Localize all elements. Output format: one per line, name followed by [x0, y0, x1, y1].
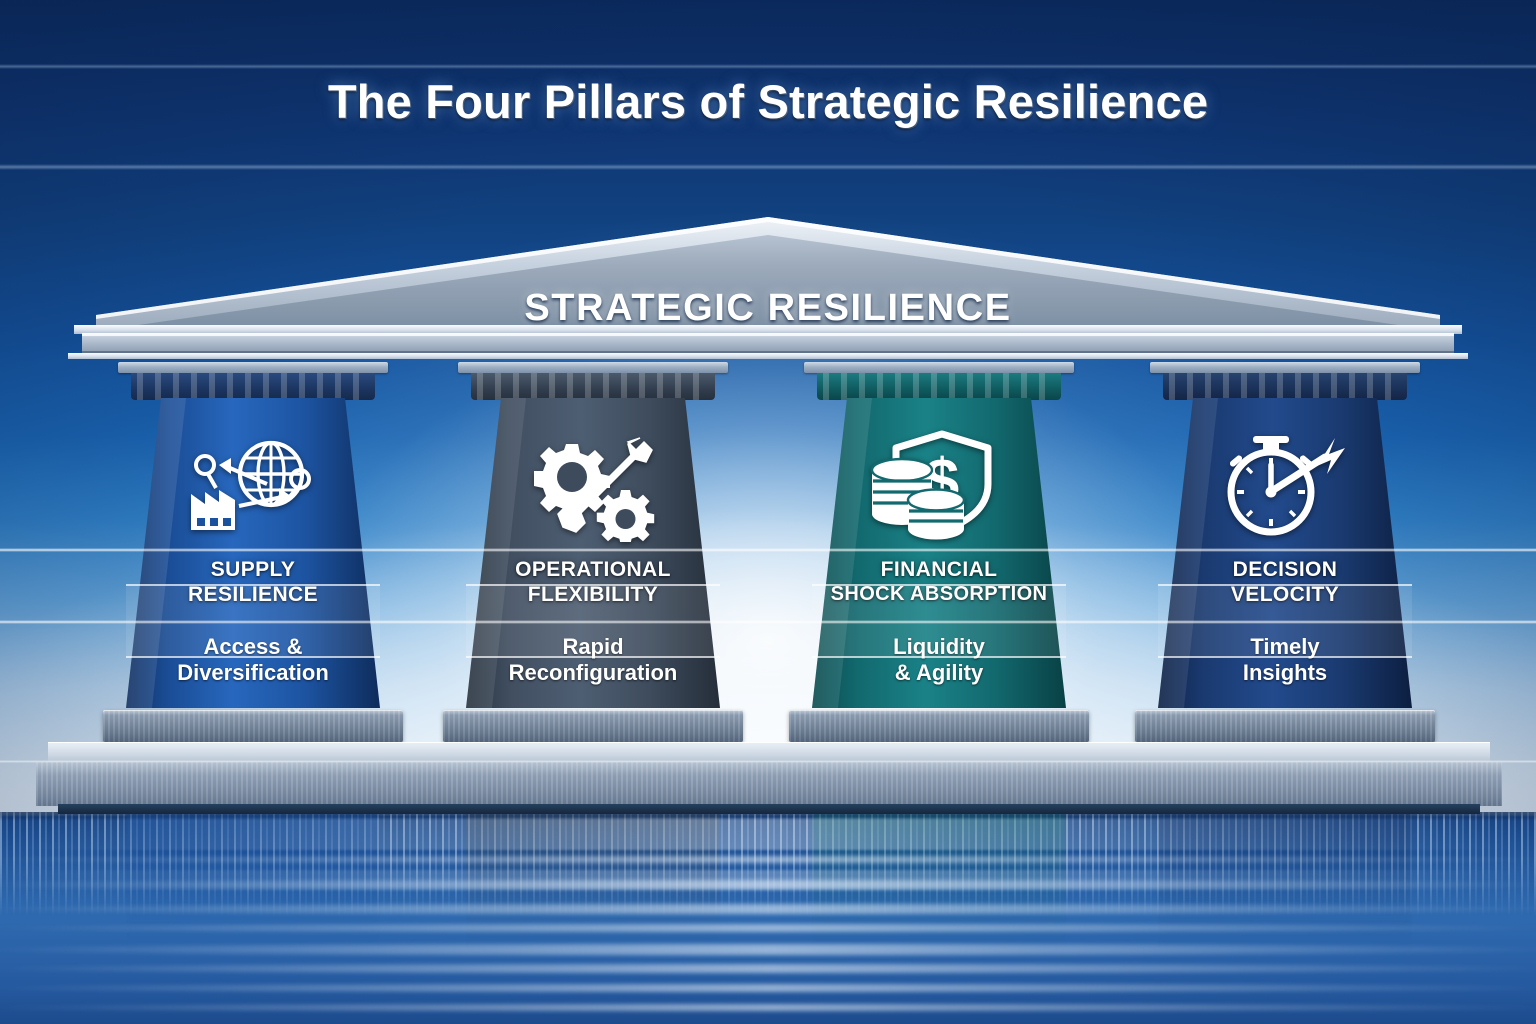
pillar-supply-resilience[interactable]: SUPPLY RESILIENCE Access & Diversificati…: [126, 362, 380, 742]
platform-step-main: [36, 762, 1502, 806]
shield-coins-dollar-icon: $: [812, 428, 1066, 545]
pillar-capital: [812, 362, 1066, 400]
page-title-text: The Four Pillars of Strategic Resilience: [328, 74, 1208, 129]
pillar-title-line2: FLEXIBILITY: [466, 583, 720, 608]
pillar-plinth: [789, 710, 1089, 742]
page-title: The Four Pillars of Strategic Resilience: [0, 74, 1536, 129]
pillar-title-line2: VELOCITY: [1158, 583, 1412, 608]
water-ripple: [0, 964, 1536, 973]
pillar-title: FINANCIAL SHOCK ABSORPTION: [812, 558, 1066, 606]
water-ripple: [0, 904, 1536, 914]
pillar-plinth: [103, 710, 403, 742]
pillar-title: SUPPLY RESILIENCE: [126, 558, 380, 607]
pillar-subtitle-line2: & Agility: [812, 660, 1066, 686]
pillar-title-line1: DECISION: [1158, 558, 1412, 583]
pillar-decision-velocity[interactable]: DECISION VELOCITY Timely Insights: [1158, 362, 1412, 742]
pillar-subtitle: Timely Insights: [1158, 634, 1412, 687]
capital-abacus: [1150, 362, 1419, 373]
capital-flutes: [131, 373, 375, 400]
pillar-title-line1: FINANCIAL: [812, 558, 1066, 583]
water-ripple: [0, 880, 1536, 889]
pediment-inscription: STRATEGIC RESILIENCE: [68, 287, 1468, 330]
gears-wrench-icon: [466, 434, 720, 547]
pillar-capital: [466, 362, 720, 400]
pillar-title-line2: SHOCK ABSORPTION: [812, 583, 1066, 606]
water-ripple: [0, 924, 1536, 932]
water-ripple: [0, 944, 1536, 955]
capital-abacus: [458, 362, 727, 373]
pillar-subtitle-line2: Insights: [1158, 660, 1412, 686]
pillar-plinth: [443, 710, 743, 742]
pillar-title: OPERATIONAL FLEXIBILITY: [466, 558, 720, 607]
water-ripple: [0, 984, 1536, 992]
water-ripple: [0, 1004, 1536, 1011]
pillar-capital: [126, 362, 380, 400]
pillar-subtitle-line1: Rapid: [466, 634, 720, 660]
capital-flutes: [471, 373, 715, 400]
pillar-subtitle-line1: Liquidity: [812, 634, 1066, 660]
platform-shadow-edge: [58, 804, 1480, 814]
capital-abacus: [118, 362, 387, 373]
pillar-subtitle: Liquidity & Agility: [812, 634, 1066, 687]
globe-factory-supply-chain-icon: [126, 438, 380, 549]
pediment: STRATEGIC RESILIENCE: [68, 215, 1468, 355]
pillar-operational-flexibility[interactable]: OPERATIONAL FLEXIBILITY Rapid Reconfigur…: [466, 362, 720, 742]
water-ripple: [0, 856, 1536, 863]
capital-flutes: [817, 373, 1061, 400]
water-reflection: [0, 812, 1536, 1024]
platform-step-top: [48, 742, 1490, 764]
pillar-subtitle-line2: Diversification: [126, 660, 380, 686]
capital-abacus: [804, 362, 1073, 373]
stopwatch-lightning-arrow-icon: [1158, 432, 1412, 547]
pillar-capital: [1158, 362, 1412, 400]
pillar-plinth: [1135, 710, 1435, 742]
pillar-title-line1: OPERATIONAL: [466, 558, 720, 583]
pillar-title-line1: SUPPLY: [126, 558, 380, 583]
capital-flutes: [1163, 373, 1407, 400]
pediment-label: STRATEGIC RESILIENCE: [524, 287, 1011, 329]
pillar-subtitle-line1: Timely: [1158, 634, 1412, 660]
pillar-title: DECISION VELOCITY: [1158, 558, 1412, 607]
pillar-subtitle: Access & Diversification: [126, 634, 380, 687]
pillar-title-line2: RESILIENCE: [126, 583, 380, 608]
infographic-scene: The Four Pillars of Strategic Resilience: [0, 0, 1536, 1024]
pillar-subtitle: Rapid Reconfiguration: [466, 634, 720, 687]
pillar-subtitle-line2: Reconfiguration: [466, 660, 720, 686]
pillar-subtitle-line1: Access &: [126, 634, 380, 660]
pillar-financial-shock-absorption[interactable]: $: [812, 362, 1066, 742]
